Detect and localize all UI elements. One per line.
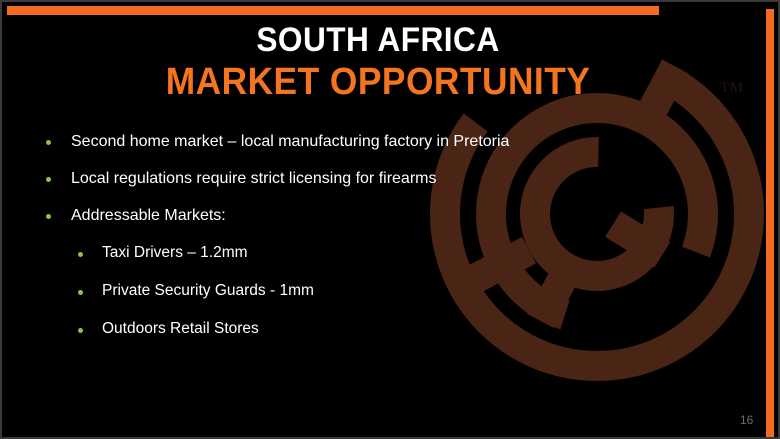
page-number: 16 <box>740 413 753 427</box>
bullet-dot-icon <box>46 214 51 219</box>
bullet-dot-icon <box>46 177 51 182</box>
list-item-label: Second home market – local manufacturing… <box>71 132 509 152</box>
sub-list-item: Private Security Guards - 1mm <box>2 281 762 319</box>
list-item: Local regulations require strict licensi… <box>2 169 762 206</box>
title-line-country: SOUTH AFRICA <box>28 20 727 60</box>
list-item: Second home market – local manufacturing… <box>2 132 762 169</box>
bullet-dot-icon <box>78 290 83 295</box>
bullet-dot-icon <box>78 328 83 333</box>
sub-list-item: Taxi Drivers – 1.2mm <box>2 243 762 281</box>
sub-list-item-label: Outdoors Retail Stores <box>102 319 259 339</box>
bullet-dot-icon <box>78 252 83 257</box>
slide-title: SOUTH AFRICA MARKET OPPORTUNITY <box>2 20 754 104</box>
list-item-label: Addressable Markets: <box>71 206 226 226</box>
sub-list-item: Outdoors Retail Stores <box>2 319 762 357</box>
bullet-dot-icon <box>46 140 51 145</box>
list-item: Addressable Markets: <box>2 206 762 243</box>
top-accent-bar <box>7 6 659 15</box>
presentation-slide: TM SOUTH AFRICA MARKET OPPORTUNITY Secon… <box>0 0 780 439</box>
title-line-topic: MARKET OPPORTUNITY <box>28 60 727 104</box>
right-accent-bar <box>766 9 774 437</box>
list-item-label: Local regulations require strict licensi… <box>71 169 436 189</box>
sub-list-item-label: Taxi Drivers – 1.2mm <box>102 243 248 263</box>
sub-list-item-label: Private Security Guards - 1mm <box>102 281 314 301</box>
bullet-list: Second home market – local manufacturing… <box>2 132 762 357</box>
